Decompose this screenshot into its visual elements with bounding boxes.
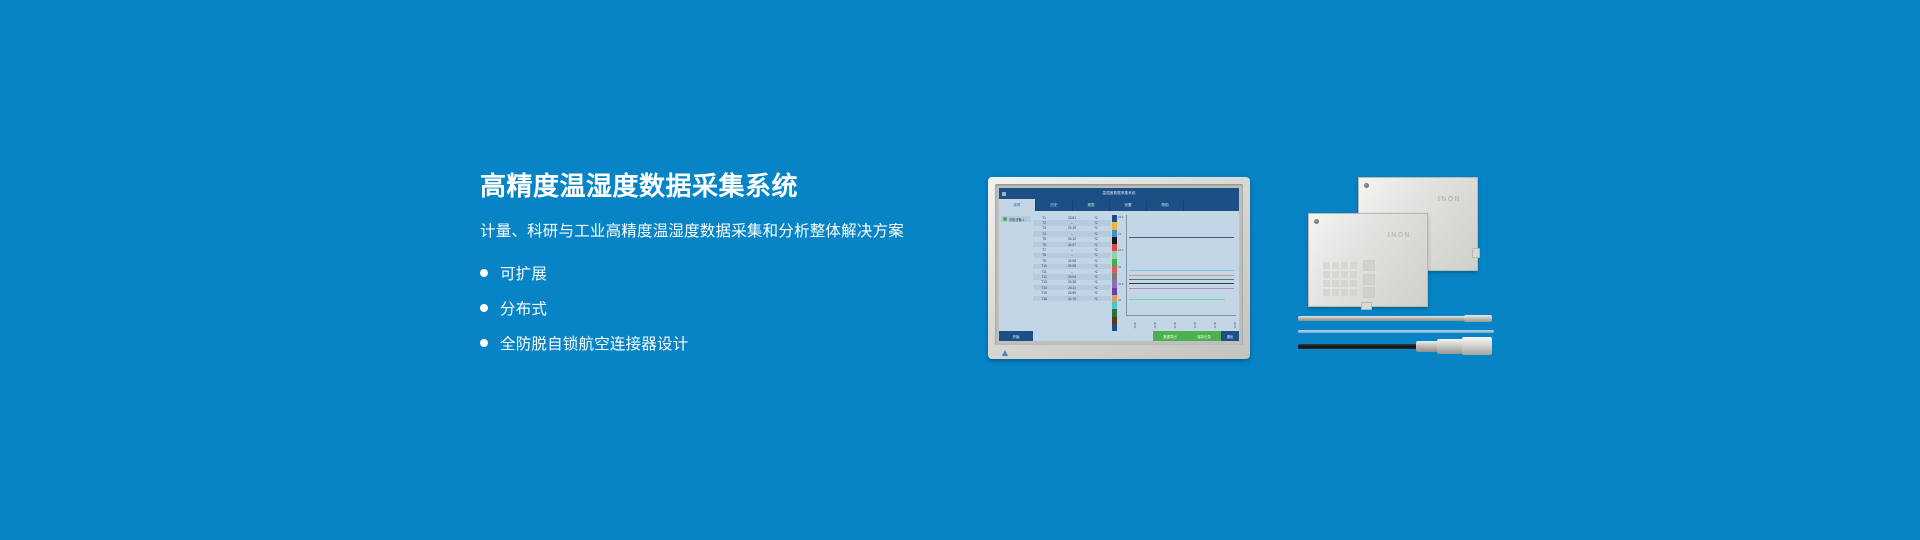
tab-settings[interactable]: 设置 [1110, 199, 1147, 211]
module-side-tab [1472, 248, 1480, 258]
status-dot-icon [1003, 217, 1007, 221]
chart-y-tick-label: 23.8 [1118, 282, 1123, 286]
screw-icon [1364, 183, 1369, 188]
app-tab-bar: 实时 历史 报表 设置 帮助 [999, 199, 1239, 211]
chart-y-tick-label: 24.4 [1118, 215, 1123, 219]
cell-channel: T4 [1033, 232, 1055, 236]
cell-channel: T12 [1033, 275, 1055, 279]
cell-value: -- [1055, 253, 1089, 257]
chart-x-tick-label: 11:40 [1214, 322, 1217, 328]
monitor-bezel: 温湿度数据采集系统 实时 历史 报表 设置 帮助 采集设备-1 [995, 184, 1243, 345]
cell-value: 24.76 [1055, 297, 1089, 301]
cell-unit: ℃ [1089, 226, 1103, 230]
module-port-group-icon [1363, 260, 1375, 298]
chart-series-line [1129, 279, 1234, 280]
metal-probe-body [1298, 316, 1468, 321]
screw-icon [1314, 219, 1319, 224]
chart-series-line [1129, 299, 1225, 300]
bullet-dot-icon [480, 269, 488, 277]
cell-value: 24.04 [1055, 275, 1089, 279]
start-button[interactable]: 开始 [999, 331, 1033, 341]
chart-series-line [1129, 283, 1234, 284]
cell-value: 24.12 [1055, 237, 1089, 241]
cell-value: 24.08 [1055, 264, 1089, 268]
table-row[interactable]: T3 24.19 ℃ [1033, 226, 1111, 231]
chart-series-line [1129, 270, 1234, 271]
chart-plot-area: 24.42424.22423.82410:2010:4011:0011:2011… [1126, 215, 1236, 316]
chart-y-tick-label: 24 [1118, 265, 1121, 269]
cell-channel: T3 [1033, 226, 1055, 230]
cell-unit: ℃ [1089, 243, 1103, 247]
save-record-button[interactable]: 保存记录 [1187, 331, 1221, 341]
feature-label: 全防脱自锁航空连接器设计 [500, 332, 688, 354]
app-statusbar: 开始 数据导出 保存记录 退出 [999, 331, 1239, 341]
monitor-device: 温湿度数据采集系统 实时 历史 报表 设置 帮助 采集设备-1 [988, 177, 1250, 359]
chart-x-tick-label: 12:00 [1234, 322, 1237, 329]
page-subtitle: 计量、科研与工业高精度温湿度数据采集和分析整体解决方案 [480, 219, 950, 241]
cell-value: 24.19 [1055, 226, 1089, 230]
table-row[interactable]: T4 -- ℃ [1033, 231, 1111, 236]
trend-chart: 24.42424.22423.82410:2010:4011:0011:2011… [1117, 211, 1239, 331]
cell-unit: ℃ [1089, 232, 1103, 236]
cell-value: 24.28 [1055, 280, 1089, 284]
cell-channel: T15 [1033, 291, 1055, 295]
cell-unit: ℃ [1089, 237, 1103, 241]
table-row[interactable]: T13 24.28 ℃ [1033, 280, 1111, 285]
channel-table: T1 23.81 ℃ T2 -- ℃ T3 [1033, 211, 1117, 331]
table-row[interactable]: T1 23.81 ℃ [1033, 215, 1111, 220]
table-row[interactable]: T14 24.11 ℃ [1033, 285, 1111, 290]
cell-unit: ℃ [1089, 297, 1103, 301]
module-vent-grid-icon [1323, 262, 1357, 296]
table-row[interactable]: T6 24.07 ℃ [1033, 242, 1111, 247]
tab-help[interactable]: 帮助 [1147, 199, 1184, 211]
channel-table-rows: T1 23.81 ℃ T2 -- ℃ T3 [1033, 215, 1111, 331]
table-row[interactable]: T15 24.90 ℃ [1033, 290, 1111, 295]
chart-series-line [1129, 288, 1234, 289]
cell-unit: ℃ [1089, 216, 1103, 220]
tab-history[interactable]: 历史 [1036, 199, 1073, 211]
monitor-screen: 温湿度数据采集系统 实时 历史 报表 设置 帮助 采集设备-1 [999, 188, 1239, 341]
app-titlebar: 温湿度数据采集系统 [999, 188, 1239, 199]
table-row[interactable]: T9 24.06 ℃ [1033, 258, 1111, 263]
tab-report[interactable]: 报表 [1073, 199, 1110, 211]
cable-connector-head [1462, 337, 1492, 355]
hero-text-block: 高精度温湿度数据采集系统 计量、科研与工业高精度温湿度数据采集和分析整体解决方案… [480, 172, 950, 369]
metal-probe-tip [1464, 315, 1492, 322]
cell-channel: T10 [1033, 264, 1055, 268]
table-row[interactable]: T5 24.12 ℃ [1033, 237, 1111, 242]
chart-x-tick-label: 10:40 [1154, 322, 1157, 329]
cell-channel: T13 [1033, 280, 1055, 284]
cell-channel: T7 [1033, 248, 1055, 252]
acquisition-module-front: INON [1308, 213, 1428, 307]
device-tree-sidebar: 采集设备-1 [999, 211, 1033, 331]
cell-unit: ℃ [1089, 248, 1103, 252]
chart-series-line [1129, 275, 1234, 276]
feature-label: 分布式 [500, 297, 547, 319]
chart-x-tick-label: 11:00 [1174, 322, 1177, 328]
black-cable [1298, 344, 1418, 349]
cell-unit: ℃ [1089, 286, 1103, 290]
cell-channel: T6 [1033, 243, 1055, 247]
cell-channel: T8 [1033, 253, 1055, 257]
list-item: 全防脱自锁航空连接器设计 [480, 333, 950, 353]
sidebar-item-device[interactable]: 采集设备-1 [1001, 216, 1031, 222]
feature-list: 可扩展 分布式 全防脱自锁航空连接器设计 [480, 263, 950, 353]
chart-y-tick-label: 24 [1118, 232, 1121, 236]
table-row[interactable]: T8 -- ℃ [1033, 253, 1111, 258]
chart-series-line [1129, 237, 1234, 238]
table-row[interactable]: T2 -- ℃ [1033, 220, 1111, 225]
cell-value: -- [1055, 221, 1089, 225]
app-window-title: 温湿度数据采集系统 [999, 191, 1239, 196]
table-row[interactable]: T11 -- ℃ [1033, 269, 1111, 274]
table-row[interactable]: T10 24.08 ℃ [1033, 264, 1111, 269]
cell-channel: T11 [1033, 270, 1055, 274]
page-title: 高精度温湿度数据采集系统 [480, 172, 950, 201]
export-data-button[interactable]: 数据导出 [1153, 331, 1187, 341]
module-bottom-tab [1361, 302, 1372, 310]
chart-x-tick-label: 10:20 [1134, 322, 1137, 329]
cell-value: 23.81 [1055, 216, 1089, 220]
blue-cable-probe [1298, 330, 1494, 333]
cell-value: -- [1055, 232, 1089, 236]
cell-channel: T9 [1033, 259, 1055, 263]
cell-value: 24.07 [1055, 243, 1089, 247]
monitor-brand-logo-icon [1002, 350, 1008, 356]
cell-channel: T5 [1033, 237, 1055, 241]
table-row[interactable]: T16 24.76 ℃ [1033, 296, 1111, 301]
cell-unit: ℃ [1089, 275, 1103, 279]
sensor-probes-group [1298, 312, 1498, 362]
monitor-outer-frame: 温湿度数据采集系统 实时 历史 报表 设置 帮助 采集设备-1 [988, 177, 1250, 359]
cell-channel: T16 [1033, 297, 1055, 301]
list-item: 分布式 [480, 298, 950, 318]
cable-connector-body [1437, 339, 1463, 354]
cell-value: 24.06 [1055, 259, 1089, 263]
module-brand-label: INON [1388, 232, 1411, 239]
chart-x-tick-label: 11:20 [1194, 322, 1197, 328]
cell-unit: ℃ [1089, 270, 1103, 274]
tab-realtime[interactable]: 实时 [999, 199, 1036, 211]
table-row[interactable]: T7 -- ℃ [1033, 247, 1111, 252]
cable-connector-ferrule [1416, 341, 1438, 352]
cell-unit: ℃ [1089, 280, 1103, 284]
cell-channel: T2 [1033, 221, 1055, 225]
module-brand-label: INON [1438, 196, 1461, 203]
cell-unit: ℃ [1089, 253, 1103, 257]
list-item: 可扩展 [480, 263, 950, 283]
cell-unit: ℃ [1089, 221, 1103, 225]
chart-y-tick-label: 24.2 [1118, 248, 1123, 252]
cell-value: -- [1055, 248, 1089, 252]
chart-y-tick-label: 24 [1118, 298, 1121, 302]
cell-channel: T1 [1033, 216, 1055, 220]
cell-value: -- [1055, 270, 1089, 274]
exit-button[interactable]: 退出 [1221, 331, 1239, 341]
cell-unit: ℃ [1089, 291, 1103, 295]
cell-channel: T14 [1033, 286, 1055, 290]
feature-label: 可扩展 [500, 262, 547, 284]
bullet-dot-icon [480, 339, 488, 347]
table-row[interactable]: T12 24.04 ℃ [1033, 274, 1111, 279]
app-body: 采集设备-1 T1 23.81 ℃ T2 [999, 211, 1239, 331]
cell-value: 24.90 [1055, 291, 1089, 295]
cell-unit: ℃ [1089, 264, 1103, 268]
cell-value: 24.11 [1055, 286, 1089, 290]
statusbar-spacer [1033, 331, 1153, 341]
cell-unit: ℃ [1089, 259, 1103, 263]
sidebar-item-label: 采集设备-1 [1009, 217, 1025, 222]
product-banner: 高精度温湿度数据采集系统 计量、科研与工业高精度温湿度数据采集和分析整体解决方案… [0, 0, 1920, 540]
bullet-dot-icon [480, 304, 488, 312]
